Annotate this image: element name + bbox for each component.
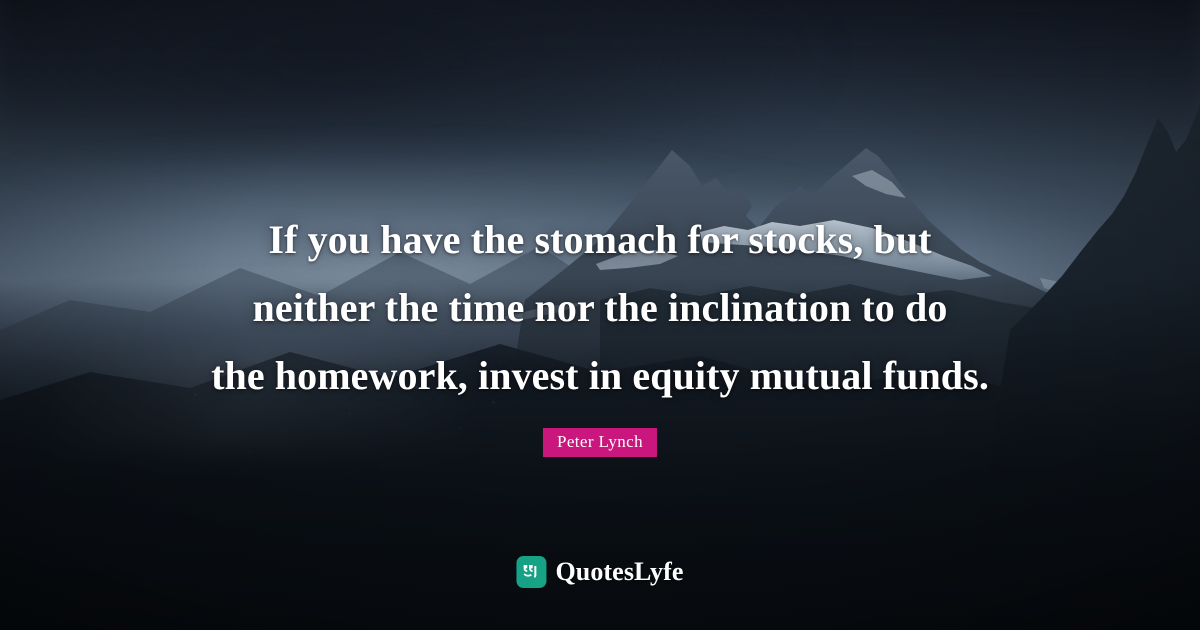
quote-line: neither the time nor the inclination to … <box>84 274 1116 342</box>
quote-text: If you have the stomach for stocks, but … <box>0 206 1200 410</box>
brand-logo[interactable]: QuotesLyfe <box>516 556 683 588</box>
quote-line: the homework, invest in equity mutual fu… <box>84 342 1116 410</box>
quote-line: If you have the stomach for stocks, but <box>84 206 1116 274</box>
quote-card: If you have the stomach for stocks, but … <box>0 0 1200 630</box>
brand-name: QuotesLyfe <box>555 557 683 587</box>
quote-mark-icon <box>516 556 546 588</box>
card-content: If you have the stomach for stocks, but … <box>0 0 1200 630</box>
author-badge[interactable]: Peter Lynch <box>543 428 657 457</box>
